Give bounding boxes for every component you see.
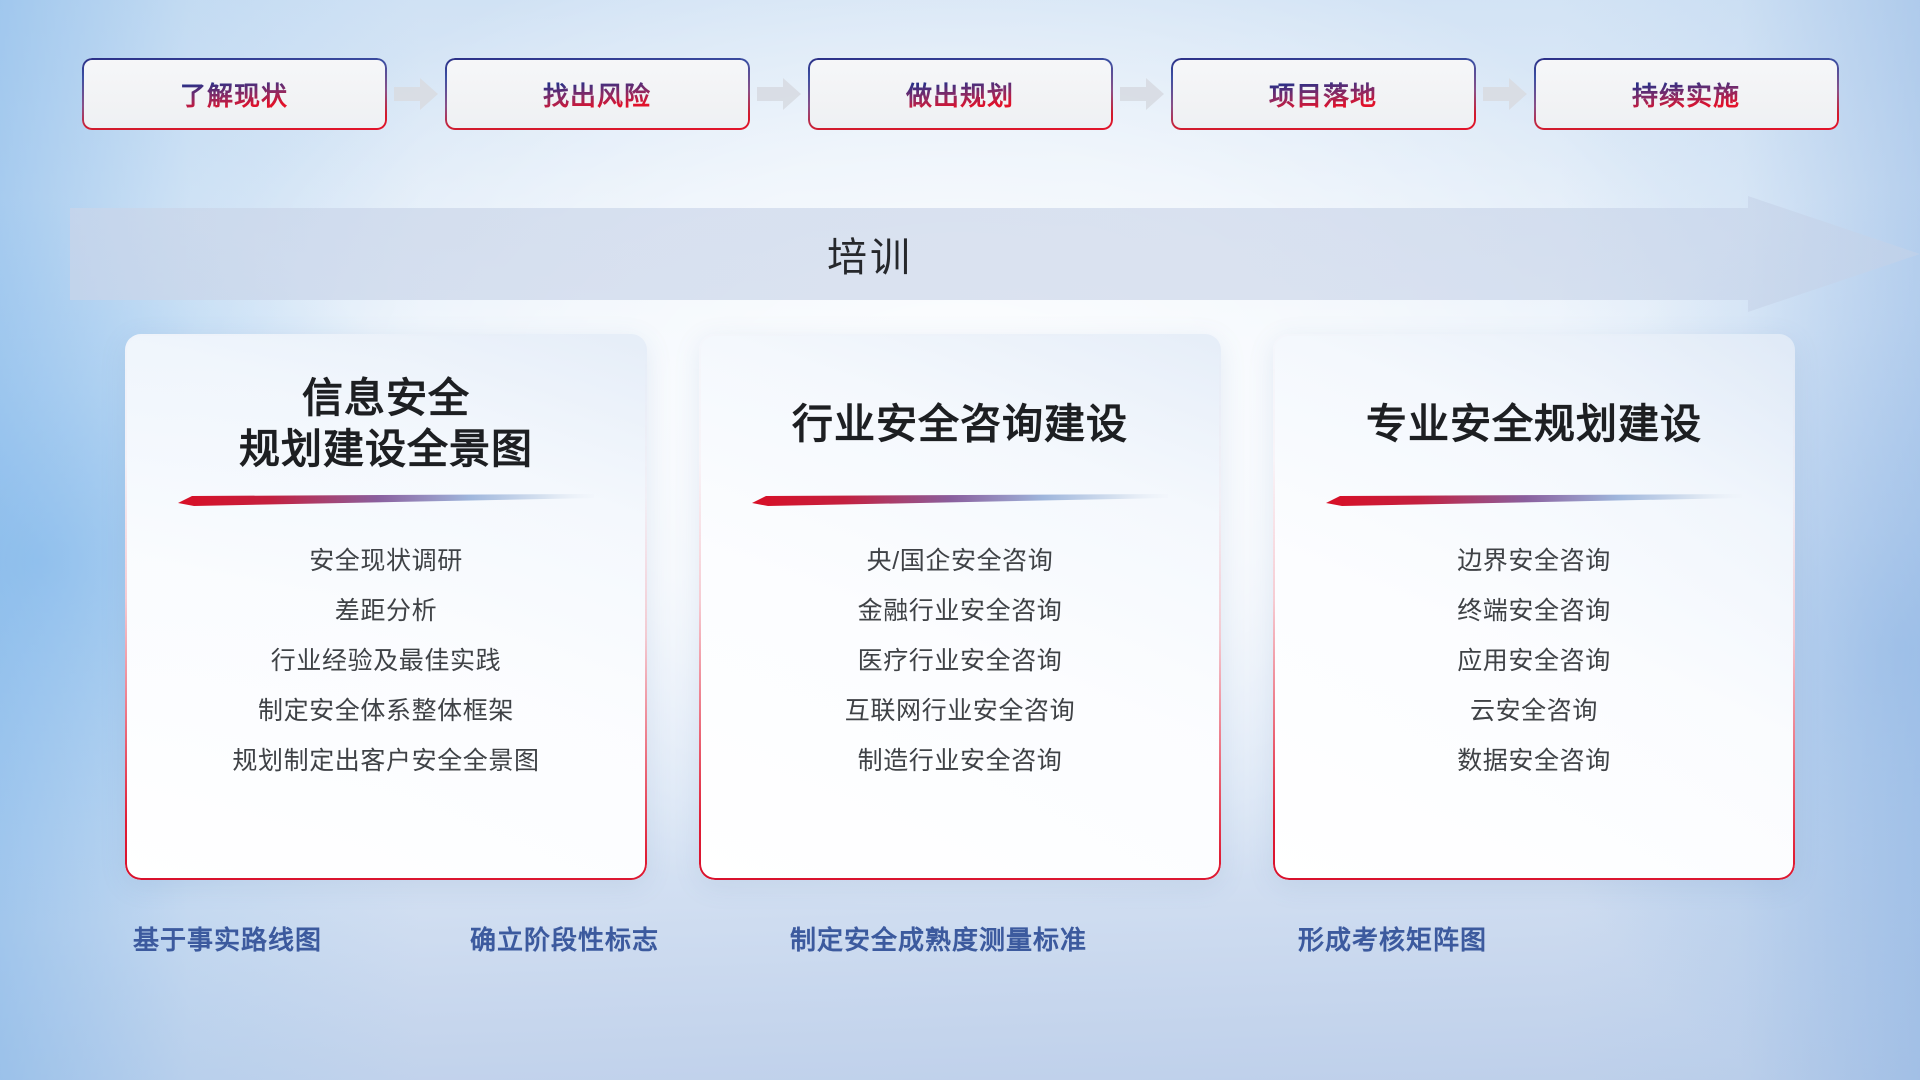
card-professional-security-planning[interactable]: 专业安全规划建设 [1273, 334, 1795, 880]
chevron-right-arrow-icon [392, 75, 440, 113]
card-item-list: 安全现状调研 差距分析 行业经验及最佳实践 制定安全体系整体框架 规划制定出客户… [159, 536, 613, 786]
list-item: 云安全咨询 [1470, 686, 1598, 736]
card-row: 信息安全 规划建设全景图 [0, 334, 1920, 880]
gradient-divider-icon [1326, 494, 1742, 506]
card-title: 行业安全咨询建设 [792, 372, 1128, 476]
training-banner: 培训 [70, 196, 1920, 312]
list-item: 金融行业安全咨询 [858, 586, 1063, 636]
list-item: 医疗行业安全咨询 [858, 636, 1063, 686]
step-label: 项目落地 [1269, 76, 1377, 113]
list-item: 行业经验及最佳实践 [271, 636, 501, 686]
footer-label-2: 确立阶段性标志 [470, 920, 659, 957]
list-item: 规划制定出客户安全全景图 [232, 736, 539, 786]
slide-canvas: 了解现状 找出风险 做出规划 项目落地 [0, 0, 1920, 1080]
chevron-right-arrow-icon [1481, 75, 1529, 113]
step-label: 持续实施 [1632, 76, 1740, 113]
list-item: 应用安全咨询 [1457, 636, 1611, 686]
card-title: 专业安全规划建设 [1366, 372, 1702, 476]
process-step-row: 了解现状 找出风险 做出规划 项目落地 [0, 58, 1920, 130]
footer-label-3: 制定安全成熟度测量标准 [790, 920, 1087, 957]
list-item: 制定安全体系整体框架 [258, 686, 514, 736]
list-item: 央/国企安全咨询 [867, 536, 1054, 586]
card-industry-security-consulting[interactable]: 行业安全咨询建设 [699, 334, 1221, 880]
list-item: 互联网行业安全咨询 [845, 686, 1075, 736]
step-pill-5[interactable]: 持续实施 [1534, 58, 1839, 130]
banner-title: 培训 [70, 196, 1670, 312]
chevron-right-arrow-icon [755, 75, 803, 113]
step-label: 了解现状 [180, 76, 288, 113]
card-item-list: 央/国企安全咨询 金融行业安全咨询 医疗行业安全咨询 互联网行业安全咨询 制造行… [733, 536, 1187, 786]
list-item: 制造行业安全咨询 [858, 736, 1063, 786]
gradient-divider-icon [178, 494, 594, 506]
gradient-divider-icon [752, 494, 1168, 506]
card-information-security-blueprint[interactable]: 信息安全 规划建设全景图 [125, 334, 647, 880]
step-pill-3[interactable]: 做出规划 [808, 58, 1113, 130]
footer-label-row: 基于事实路线图 确立阶段性标志 制定安全成熟度测量标准 形成考核矩阵图 [0, 920, 1920, 968]
step-pill-1[interactable]: 了解现状 [82, 58, 387, 130]
list-item: 差距分析 [335, 586, 437, 636]
step-pill-4[interactable]: 项目落地 [1171, 58, 1476, 130]
step-label: 找出风险 [543, 76, 651, 113]
step-pill-2[interactable]: 找出风险 [445, 58, 750, 130]
list-item: 边界安全咨询 [1457, 536, 1611, 586]
list-item: 终端安全咨询 [1457, 586, 1611, 636]
card-item-list: 边界安全咨询 终端安全咨询 应用安全咨询 云安全咨询 数据安全咨询 [1307, 536, 1761, 786]
chevron-right-arrow-icon [1118, 75, 1166, 113]
card-title: 信息安全 规划建设全景图 [239, 372, 533, 476]
step-label: 做出规划 [906, 76, 1014, 113]
footer-label-4: 形成考核矩阵图 [1298, 920, 1487, 957]
list-item: 安全现状调研 [309, 536, 463, 586]
footer-label-1: 基于事实路线图 [133, 920, 322, 957]
list-item: 数据安全咨询 [1457, 736, 1611, 786]
